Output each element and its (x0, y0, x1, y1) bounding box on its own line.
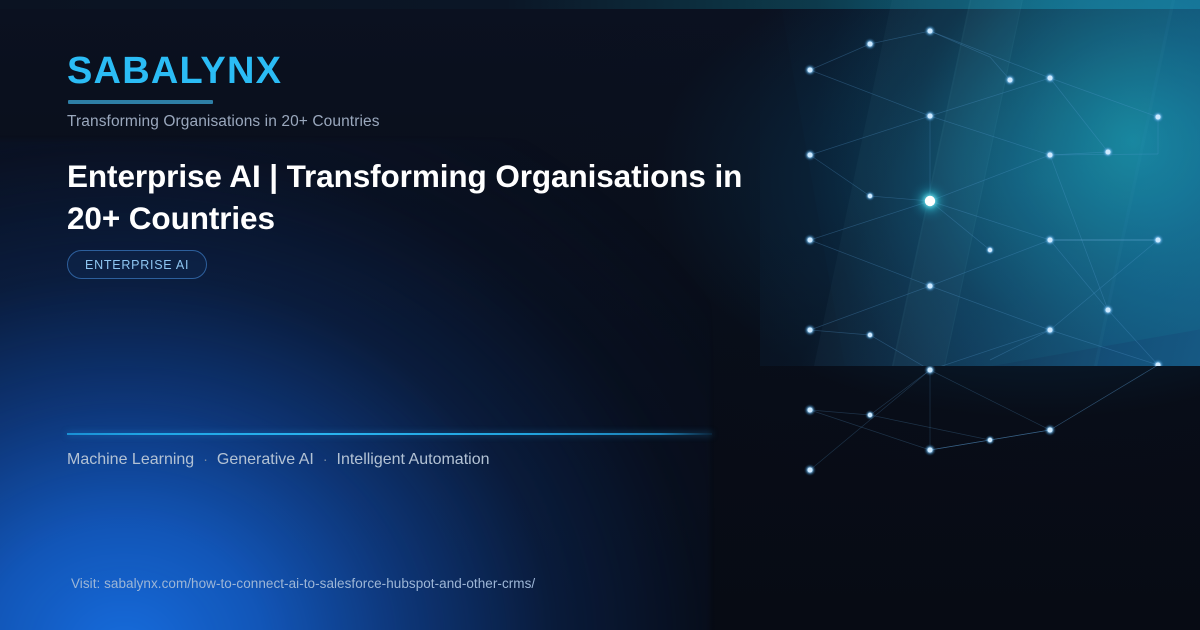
topic-tag: Intelligent Automation (337, 451, 490, 468)
status-badge: ENTERPRISE AI (67, 250, 207, 279)
topic-tag-list: Machine Learning·Generative AI·Intellige… (67, 451, 490, 469)
brand-tagline: Transforming Organisations in 20+ Countr… (67, 113, 380, 131)
network-links-lower-svg (760, 366, 1200, 630)
tag-separator-icon: · (194, 451, 217, 467)
topic-tag: Generative AI (217, 451, 314, 468)
hub-node (908, 179, 952, 223)
network-links-svg (760, 0, 1200, 366)
brand-logo-underline (68, 100, 213, 104)
network-graphic-lower (760, 366, 1200, 630)
network-graphic-panel (760, 0, 1200, 366)
tag-separator-icon: · (314, 451, 337, 467)
visit-url[interactable]: Visit: sabalynx.com/how-to-connect-ai-to… (71, 576, 535, 591)
section-divider (67, 433, 712, 435)
page-title: Enterprise AI | Transforming Organisatio… (67, 156, 797, 240)
brand-logo: SABALYNX (67, 52, 282, 90)
topic-tag: Machine Learning (67, 451, 194, 468)
content-column: SABALYNX Transforming Organisations in 2… (67, 0, 787, 630)
social-card: SABALYNX Transforming Organisations in 2… (0, 0, 1200, 630)
network-node-group (804, 25, 1164, 366)
